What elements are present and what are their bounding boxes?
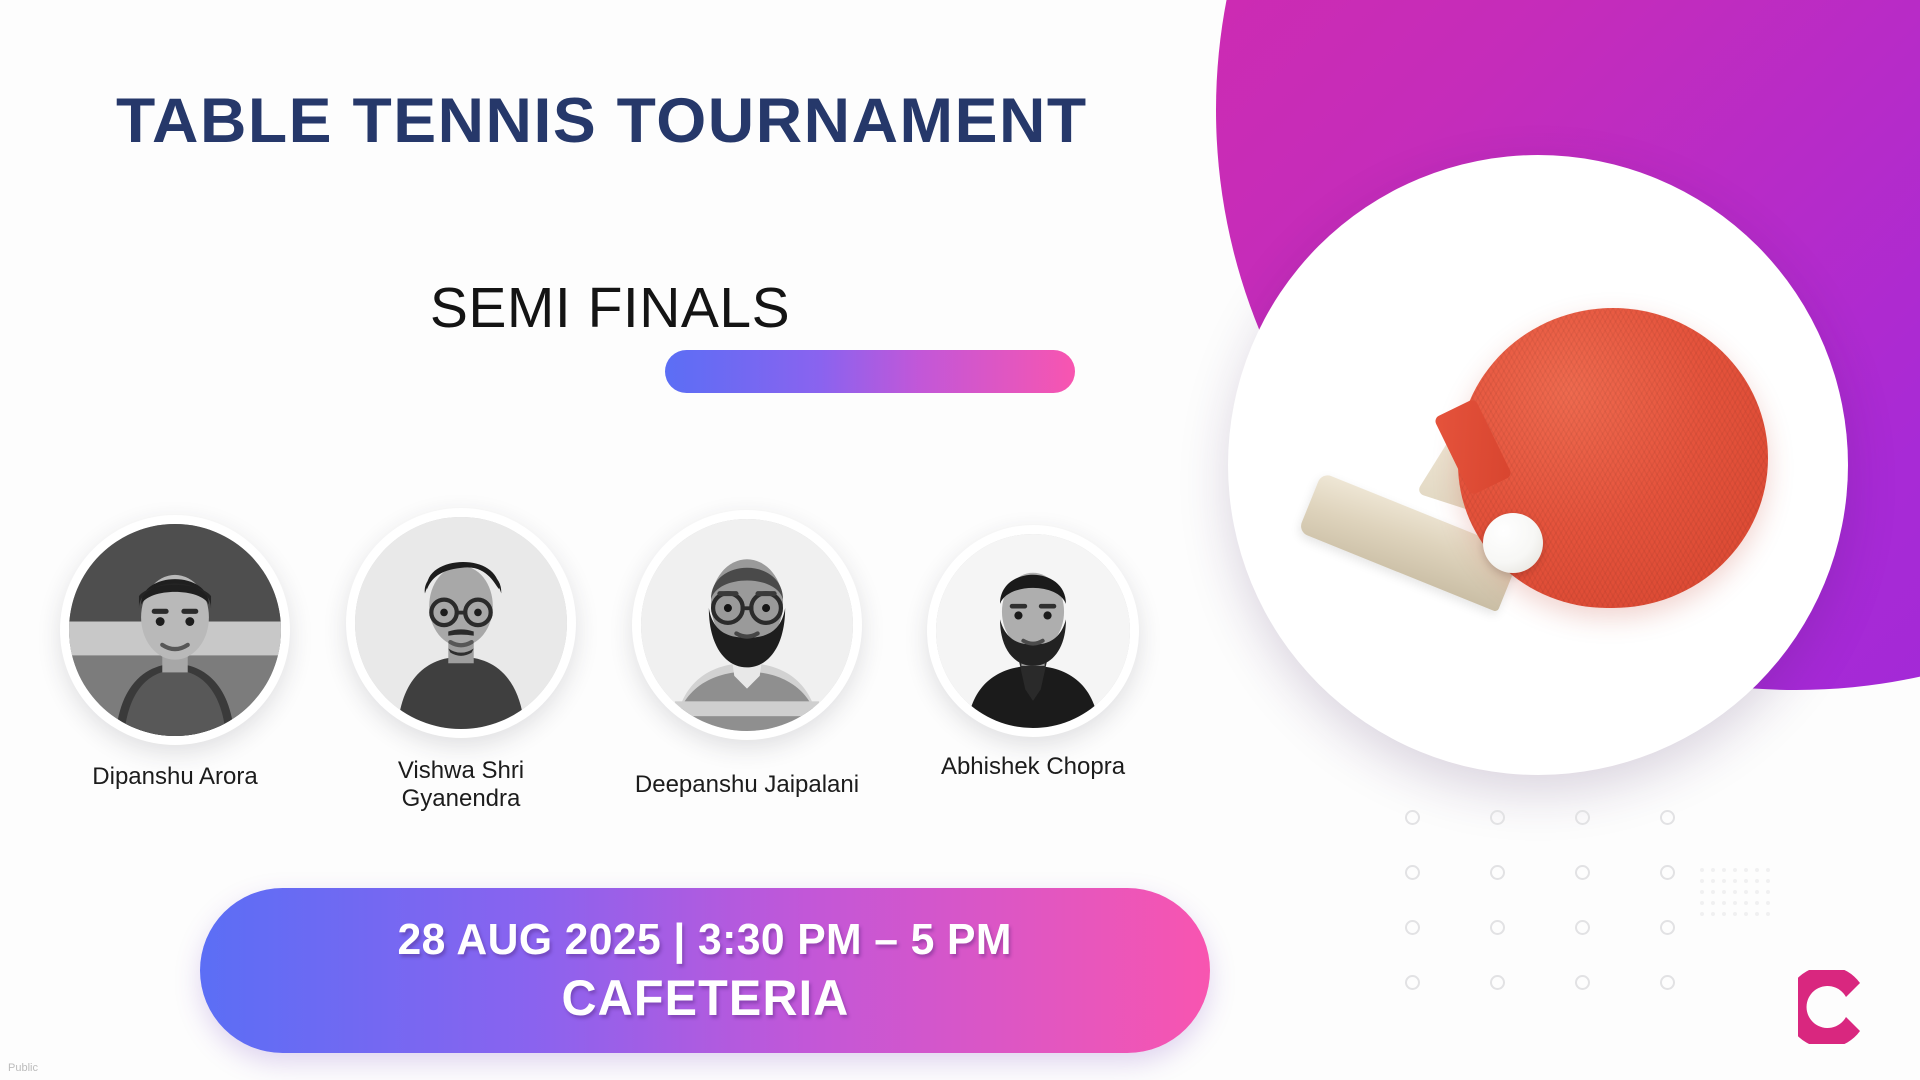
- player-name: Abhishek Chopra: [918, 753, 1148, 781]
- portrait-illustration: [69, 524, 281, 736]
- avatar-photo: [69, 524, 281, 736]
- visibility-label: Public: [8, 1062, 38, 1074]
- player-name: Vishwa Shri Gyanendra: [346, 757, 576, 814]
- list-item[interactable]: Vishwa Shri Gyanendra: [346, 515, 576, 814]
- page-subtitle: SEMI FINALS: [0, 275, 1220, 341]
- dot-grid-decoration: [1405, 810, 1745, 1030]
- list-item[interactable]: Dipanshu Arora: [60, 515, 290, 814]
- portrait-illustration: [641, 519, 853, 731]
- gradient-underline-bar: [665, 350, 1075, 393]
- avatar: [927, 525, 1139, 737]
- brand-logo-c-icon: [1798, 970, 1868, 1044]
- avatar-photo: [936, 534, 1130, 728]
- page-title: TABLE TENNIS TOURNAMENT: [116, 85, 1088, 157]
- avatar-photo: [641, 519, 853, 731]
- avatar: [632, 510, 862, 740]
- player-name: Deepanshu Jaipalani: [632, 771, 862, 799]
- poster-canvas: TABLE TENNIS TOURNAMENT SEMI FINALS: [0, 0, 1920, 1080]
- player-name: Dipanshu Arora: [60, 763, 290, 791]
- micro-dot-grid-decoration: [1700, 868, 1777, 923]
- player-list: Dipanshu Arora: [60, 515, 1200, 814]
- avatar: [346, 508, 576, 738]
- avatar: [60, 515, 290, 745]
- event-venue: CAFETERIA: [561, 969, 849, 1027]
- portrait-illustration: [936, 534, 1130, 728]
- list-item[interactable]: Abhishek Chopra: [918, 515, 1148, 814]
- list-item[interactable]: Deepanshu Jaipalani: [632, 515, 862, 814]
- table-tennis-paddle-icon: [1290, 300, 1770, 680]
- event-datetime: 28 AUG 2025 | 3:30 PM – 5 PM: [398, 915, 1012, 965]
- event-info-pill[interactable]: 28 AUG 2025 | 3:30 PM – 5 PM CAFETERIA: [200, 888, 1210, 1053]
- ping-pong-ball-icon: [1483, 513, 1543, 573]
- avatar-photo: [355, 517, 567, 729]
- portrait-illustration: [355, 517, 567, 729]
